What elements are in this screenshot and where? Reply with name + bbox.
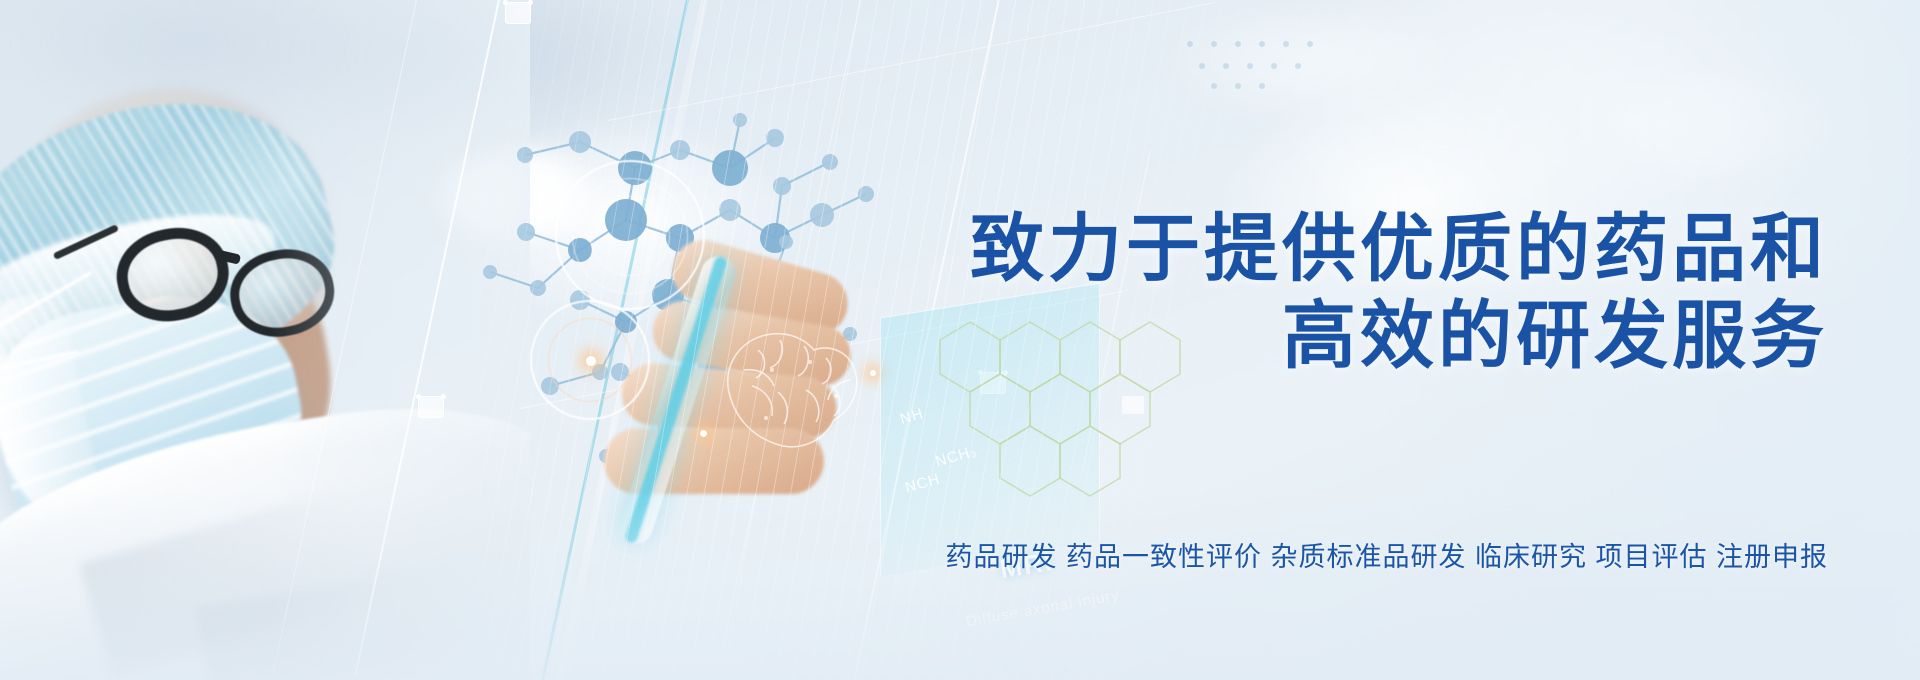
headline-line-1: 致力于提供优质的药品和 bbox=[970, 207, 1828, 290]
hero-banner: NH NCH₃ NCH MRI Diffuse axonal injury 致力… bbox=[0, 0, 1920, 680]
banner-copy: 致力于提供优质的药品和 高效的研发服务 药品研发 药品一致性评价 杂质标准品研发… bbox=[0, 0, 1920, 680]
headline-line-2: 高效的研发服务 bbox=[970, 292, 1828, 379]
headline: 致力于提供优质的药品和 高效的研发服务 bbox=[970, 205, 1828, 380]
service-tags: 药品研发 药品一致性评价 杂质标准品研发 临床研究 项目评估 注册申报 bbox=[945, 535, 1828, 574]
